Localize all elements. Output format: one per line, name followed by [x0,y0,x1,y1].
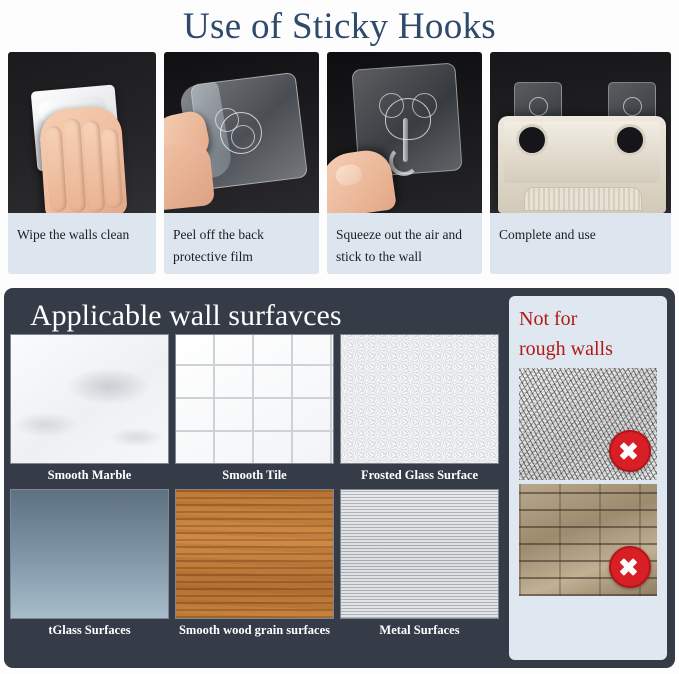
surfaces-grid: Smooth Marble Smooth Tile Frosted Glass … [10,334,500,644]
step-caption-2: Peel off the back protective film [164,213,319,274]
marble-texture-swatch [10,334,169,464]
not-for-rough-walls-card: Not for rough walls [509,296,667,660]
glass-texture-swatch [10,489,169,619]
hook-flower-shape [220,112,262,154]
step-card-2: Peel off the back protective film [164,52,319,274]
rough-stucco-wall-photo [519,368,657,480]
surface-cell-wood: Smooth wood grain surfaces [175,489,334,641]
hook-curl-shape [389,146,419,176]
grommet-shape [516,124,548,156]
applicable-surfaces-panel: Applicable wall surfavces Smooth Marble … [4,288,675,668]
hand-wiping-wall-photo [8,52,156,213]
surface-label-tile: Smooth Tile [175,464,334,486]
wood-grain-texture-swatch [175,489,334,619]
mesh-pocket-shape [524,187,642,211]
brushed-metal-texture-swatch [340,489,499,619]
grommet-shape [614,124,646,156]
surface-cell-marble: Smooth Marble [10,334,169,486]
surface-label-marble: Smooth Marble [10,464,169,486]
not-for-line-2: rough walls [519,334,657,364]
surface-cell-metal: Metal Surfaces [340,489,499,641]
red-x-icon [609,546,651,588]
hand-peeling-film-photo [164,52,319,213]
surface-cell-glass: tGlass Surfaces [10,489,169,641]
surfaces-row-1: Smooth Marble Smooth Tile Frosted Glass … [10,334,500,486]
applicable-heading: Applicable wall surfavces [30,294,342,338]
step-caption-4: Complete and use [490,213,671,274]
surface-label-glass: tGlass Surfaces [10,619,169,641]
rough-brick-wall-photo [519,484,657,596]
step-caption-3: Squeeze out the air and stick to the wal… [327,213,482,274]
tile-texture-swatch [175,334,334,464]
steps-strip: Wipe the walls clean Peel off the back p… [8,52,671,274]
surface-label-frosted-glass: Frosted Glass Surface [340,464,499,486]
fingers-shape [164,141,215,211]
surface-label-wood: Smooth wood grain surfaces [175,619,334,641]
not-for-line-1: Not for [519,304,657,334]
frosted-glass-texture-swatch [340,334,499,464]
fingernail-shape [335,163,364,186]
hook-flower-shape [385,98,431,140]
step-card-1: Wipe the walls clean [8,52,156,274]
step-card-3: Squeeze out the air and stick to the wal… [327,52,482,274]
red-x-icon [609,430,651,472]
step-caption-1: Wipe the walls clean [8,213,156,274]
organizer-on-hooks-photo [490,52,671,213]
page-title: Use of Sticky Hooks [0,0,679,51]
surfaces-row-2: tGlass Surfaces Smooth wood grain surfac… [10,489,500,641]
surface-label-metal: Metal Surfaces [340,619,499,641]
hand-shape [38,105,127,213]
hand-pressing-hook-photo [327,52,482,213]
step-card-4: Complete and use [490,52,671,274]
surface-cell-tile: Smooth Tile [175,334,334,486]
surface-cell-frosted-glass: Frosted Glass Surface [340,334,499,486]
